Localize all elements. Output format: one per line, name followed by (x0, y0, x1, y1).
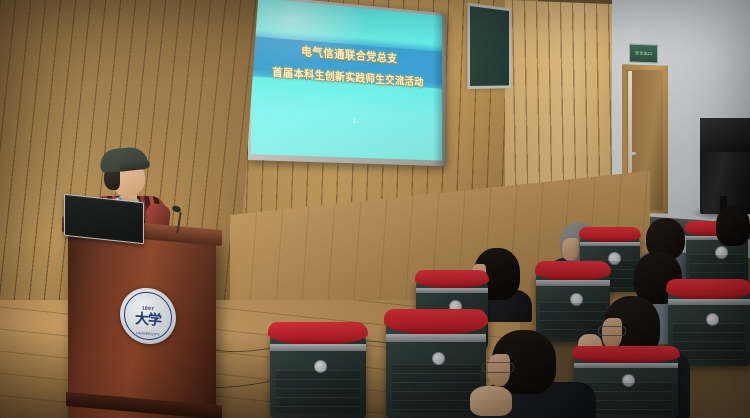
piano-lid (700, 118, 750, 152)
seat-trim (416, 288, 488, 294)
audience-head (716, 206, 750, 246)
seat[interactable] (270, 330, 366, 418)
seat-trim (386, 334, 486, 342)
glasses (598, 326, 626, 336)
seat-ridges (392, 364, 480, 412)
projection-screen: 电气信通联合党总支 首届本科生创新实践师生交流活动 (248, 0, 446, 166)
exit-sign-label: 安全出口 (635, 50, 652, 56)
audience-far-right (716, 206, 750, 250)
seat-trim (270, 344, 366, 351)
screen-edge-shadow (433, 12, 446, 166)
seat-headrest (535, 261, 612, 280)
exit-sign: 安全出口 (629, 43, 658, 63)
seat-headrest (268, 322, 368, 345)
seal-name-text: UNIVERSITY (125, 330, 171, 337)
seat-ridges (276, 370, 360, 412)
auditorium-photo: 安全出口 电气信通联合党总支 首届本科生创新实践师生交流活动 (0, 0, 750, 418)
slide-text-block: 电气信通联合党总支 首届本科生创新实践师生交流活动 (251, 40, 442, 91)
seal-inner-ring: · · · · · 1897 大学 UNIVERSITY (124, 290, 172, 341)
seat-trim (580, 242, 640, 247)
audience-face (562, 238, 579, 260)
screen-surface: 电气信通联合党总支 首届本科生创新实践师生交流活动 (251, 0, 442, 161)
seat-headrest (384, 309, 488, 335)
seat-headrest (415, 270, 490, 289)
chalkboard-frame (468, 3, 512, 89)
audience-man-glasses-front (478, 330, 596, 418)
audience-hands (470, 386, 512, 416)
seal-top-arc: · · · · · (125, 293, 171, 300)
chalkboard (470, 6, 509, 86)
laptop[interactable] (64, 194, 144, 244)
seat-trim (536, 280, 610, 286)
laptop-screen (67, 197, 141, 241)
seat-headrest (579, 227, 641, 243)
glasses (482, 362, 514, 373)
seal-emblem-glyph: 大学 (135, 312, 161, 328)
door-handle[interactable] (630, 152, 636, 155)
